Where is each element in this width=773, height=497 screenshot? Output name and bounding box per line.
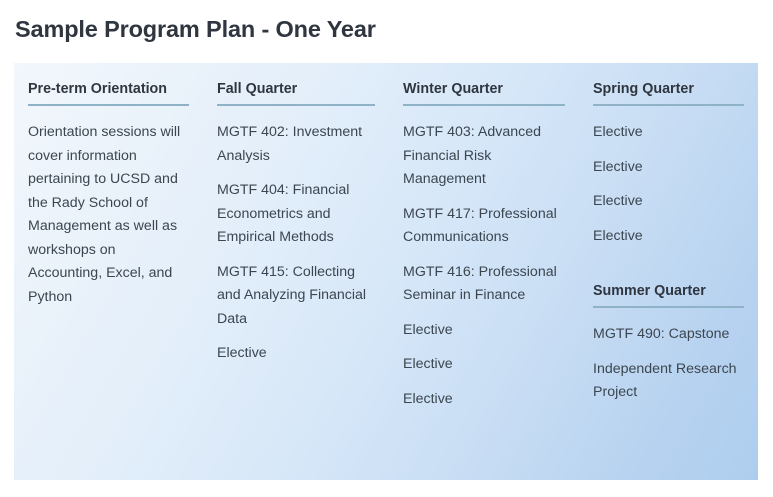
course-item: Elective: [403, 319, 565, 343]
course-item: Elective: [593, 225, 744, 249]
page-title: Sample Program Plan - One Year: [15, 14, 376, 44]
course-item: MGTF 415: Collecting and Analyzing Finan…: [217, 261, 375, 332]
column-fall-quarter: Fall Quarter MGTF 402: Investment Analys…: [203, 80, 389, 366]
program-plan-page: Sample Program Plan - One Year Pre-term …: [0, 0, 773, 497]
course-item: Elective: [593, 190, 744, 214]
course-item: Elective: [403, 353, 565, 377]
column-heading-fall-quarter: Fall Quarter: [217, 80, 375, 106]
course-item: MGTF 403: Advanced Financial Risk Manage…: [403, 121, 565, 192]
column-heading-spring-quarter: Spring Quarter: [593, 80, 744, 106]
course-item: Elective: [403, 388, 565, 412]
course-item: MGTF 404: Financial Econometrics and Emp…: [217, 179, 375, 250]
column-winter-quarter: Winter Quarter MGTF 403: Advanced Financ…: [389, 80, 579, 411]
quarter-columns: Pre-term Orientation Orientation session…: [14, 63, 758, 480]
course-item: MGTF 402: Investment Analysis: [217, 121, 375, 168]
course-item: MGTF 490: Capstone: [593, 323, 744, 347]
column-spring-summer-quarter: Spring Quarter Elective Elective Electiv…: [579, 80, 758, 405]
course-item: MGTF 417: Professional Communications: [403, 203, 565, 250]
column-heading-summer-quarter: Summer Quarter: [593, 282, 744, 308]
course-item: MGTF 416: Professional Seminar in Financ…: [403, 261, 565, 308]
column-heading-pre-term-orientation: Pre-term Orientation: [28, 80, 189, 106]
course-item: Elective: [593, 121, 744, 145]
program-plan-panel: Pre-term Orientation Orientation session…: [14, 63, 758, 480]
column-pre-term-orientation: Pre-term Orientation Orientation session…: [14, 80, 203, 309]
column-heading-winter-quarter: Winter Quarter: [403, 80, 565, 106]
course-item: Elective: [593, 156, 744, 180]
course-item: Elective: [217, 342, 375, 366]
course-item: Independent Research Project: [593, 358, 744, 405]
pre-term-orientation-description: Orientation sessions will cover informat…: [28, 121, 189, 309]
